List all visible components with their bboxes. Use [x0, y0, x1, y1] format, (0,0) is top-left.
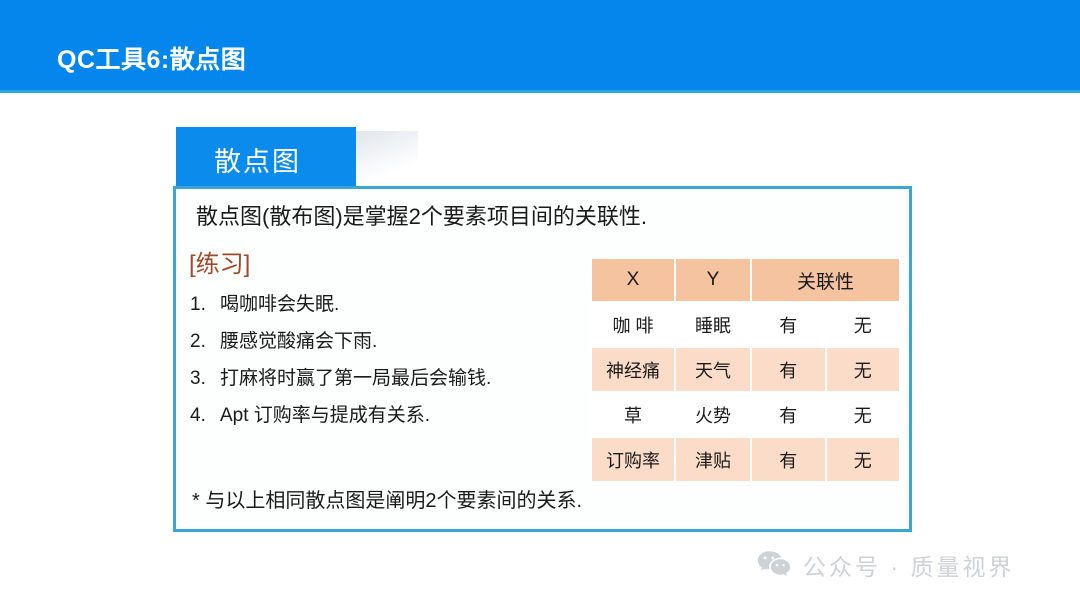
tab-shadow-decoration	[356, 131, 418, 187]
list-item-number: 2.	[190, 331, 220, 353]
cell-no: 无	[826, 347, 901, 392]
table-header-x: X	[591, 258, 675, 302]
cell-no: 无	[826, 302, 901, 347]
cell-y: 天气	[675, 347, 751, 392]
exercise-list: 1. 喝咖啡会失眠. 2. 腰感觉酸痛会下雨. 3. 打麻将时赢了第一局最后会输…	[190, 289, 580, 437]
section-tab: 散点图	[176, 127, 356, 187]
content-box: 散点图(散布图)是掌握2个要素项目间的关联性. [练习] 1. 喝咖啡会失眠. …	[173, 186, 912, 532]
cell-yes: 有	[751, 437, 826, 482]
table-header-row: X Y 关联性	[591, 258, 900, 302]
relation-table: X Y 关联性 咖 啡 睡眠 有 无 神经痛 天气 有 无	[590, 257, 901, 483]
cell-x: 咖 啡	[591, 302, 675, 347]
list-item: 2. 腰感觉酸痛会下雨.	[190, 326, 580, 363]
cell-y: 津贴	[675, 437, 751, 482]
cell-yes: 有	[751, 347, 826, 392]
table-row: 订购率 津贴 有 无	[591, 437, 900, 482]
list-item: 3. 打麻将时赢了第一局最后会输钱.	[190, 363, 580, 400]
table-row: 草 火势 有 无	[591, 392, 900, 437]
header-underline	[0, 90, 1080, 93]
cell-x: 订购率	[591, 437, 675, 482]
cell-yes: 有	[751, 392, 826, 437]
table-body: 咖 啡 睡眠 有 无 神经痛 天气 有 无 草 火势 有 无	[591, 302, 900, 482]
cell-y: 火势	[675, 392, 751, 437]
table-header-relation: 关联性	[751, 258, 900, 302]
slide-canvas: QC工具6:散点图 散点图 散点图(散布图)是掌握2个要素项目间的关联性. [练…	[0, 0, 1080, 607]
wechat-icon	[757, 550, 791, 580]
list-item-number: 1.	[190, 294, 220, 316]
watermark-text: 公众号 · 质量视界	[803, 548, 1014, 582]
list-item-label: 打麻将时赢了第一局最后会输钱.	[220, 363, 580, 390]
intro-text: 散点图(散布图)是掌握2个要素项目间的关联性.	[196, 199, 647, 231]
list-item-label: Apt 订购率与提成有关系.	[220, 400, 580, 427]
footer-note: * 与以上相同散点图是阐明2个要素间的关系.	[192, 484, 582, 513]
cell-no: 无	[826, 392, 901, 437]
table-row: 神经痛 天气 有 无	[591, 347, 900, 392]
cell-x: 神经痛	[591, 347, 675, 392]
list-item: 1. 喝咖啡会失眠.	[190, 289, 580, 326]
table-header-y: Y	[675, 258, 751, 302]
exercise-label: [练习]	[189, 244, 250, 279]
list-item-number: 4.	[190, 405, 220, 427]
list-item-number: 3.	[190, 368, 220, 390]
table-row: 咖 啡 睡眠 有 无	[591, 302, 900, 347]
cell-no: 无	[826, 437, 901, 482]
list-item-label: 喝咖啡会失眠.	[220, 289, 580, 316]
cell-y: 睡眠	[675, 302, 751, 347]
list-item-label: 腰感觉酸痛会下雨.	[220, 326, 580, 353]
page-title: QC工具6:散点图	[57, 40, 246, 76]
watermark: 公众号 · 质量视界	[757, 548, 1014, 582]
cell-x: 草	[591, 392, 675, 437]
list-item: 4. Apt 订购率与提成有关系.	[190, 400, 580, 437]
section-tab-label: 散点图	[214, 140, 301, 179]
table-header: X Y 关联性	[591, 258, 900, 302]
cell-yes: 有	[751, 302, 826, 347]
